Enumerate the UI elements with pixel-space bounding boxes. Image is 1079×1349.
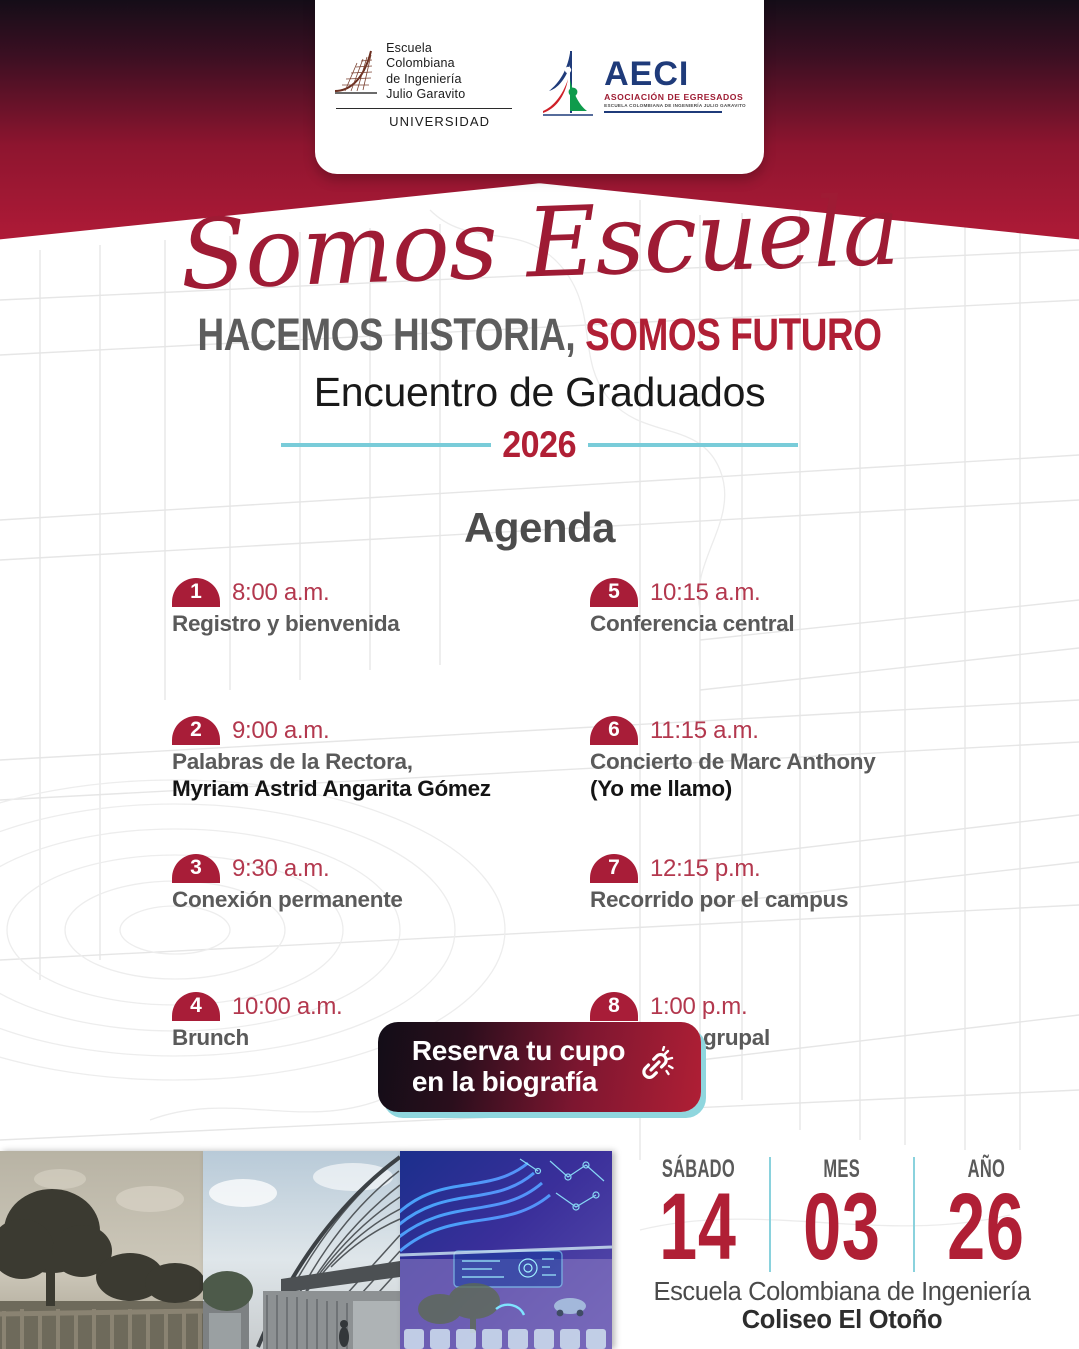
eci-divider [336,108,512,109]
agenda-item-desc-line-1: Concierto de Marc Anthony [590,749,875,774]
agenda-list: 18:00 a.m.Registro y bienvenida510:15 a.… [172,578,932,1096]
agenda-number-badge: 1 [172,578,220,607]
photo-future-tech [400,1151,612,1349]
agenda-item: 18:00 a.m.Registro y bienvenida [172,578,590,682]
agenda-item-desc-line-1: Palabras de la Rectora, [172,749,413,774]
event-subtitle: Encuentro de Graduados [0,369,1079,416]
photo-vintage-campus [0,1151,203,1349]
agenda-item: 29:00 a.m.Palabras de la Rectora,Myriam … [172,716,590,820]
agenda-number-badge: 8 [590,992,638,1021]
tagline-accent: SOMOS FUTURO [585,309,881,360]
agenda-number-badge: 6 [590,716,638,745]
cta-line-1: Reserva tu cupo [412,1035,625,1066]
agenda-item-description: Conexión permanente [172,887,590,914]
event-poster: Escuela Colombiana de Ingeniería Julio G… [0,0,1079,1349]
agenda-item-description: Concierto de Marc Anthony(Yo me llamo) [590,749,932,802]
aeci-acronym: AECI [604,57,746,91]
aeci-divider [604,111,722,112]
tagline: HACEMOS HISTORIA, SOMOS FUTURO [97,309,982,361]
date-column: AÑO26 [913,1157,1057,1271]
agenda-item-time: 9:30 a.m. [232,857,329,883]
agenda-number-badge: 2 [172,716,220,745]
agenda-item-head: 18:00 a.m. [172,578,590,607]
agenda-item-head: 29:00 a.m. [172,716,590,745]
agenda-number-badge: 5 [590,578,638,607]
cta-area: Reserva tu cupo en la biografía [0,1022,1079,1112]
script-title: Somos Escuela [0,176,1079,310]
venue-line-2: Coliseo El Otoño [627,1306,1057,1335]
agenda-item: 712:15 p.m.Recorrido por el campus [590,854,932,958]
event-year: 2026 [503,424,577,466]
agenda-item-head: 39:30 a.m. [172,854,590,883]
agenda-item-time: 10:00 a.m. [232,995,342,1021]
agenda-item-desc-line-1: Registro y bienvenida [172,611,400,636]
reserve-spot-button[interactable]: Reserva tu cupo en la biografía [378,1022,701,1112]
aeci-footnote: ESCUELA COLOMBIANA DE INGENIERÍA JULIO G… [604,104,746,109]
agenda-item-desc-line-2: (Yo me llamo) [590,776,732,801]
agenda-item-time: 12:15 p.m. [650,857,760,883]
agenda-item-description: Recorrido por el campus [590,887,932,914]
agenda-item-desc-line-2: Myriam Astrid Angarita Gómez [172,776,491,801]
event-date-block: SÁBADO14MES03AÑO26 Escuela Colombiana de… [627,1157,1057,1335]
eci-line-1: Escuela [386,41,432,55]
aeci-logo: AECI ASOCIACIÓN DE EGRESADOS ESCUELA COL… [541,49,746,121]
eci-line-4: Julio Garavito [386,87,465,101]
agenda-item: 510:15 a.m.Conferencia central [590,578,932,682]
date-column: MES03 [769,1157,913,1271]
eci-line-2: Colombiana [386,56,455,70]
venue-line-1: Escuela Colombiana de Ingeniería [627,1278,1057,1306]
agenda-item-time: 8:00 a.m. [232,581,329,607]
logo-card: Escuela Colombiana de Ingeniería Julio G… [315,0,764,174]
agenda-item-desc-line-1: Conferencia central [590,611,794,636]
escuela-colombiana-de-ingenieria-logo: Escuela Colombiana de Ingeniería Julio G… [333,41,525,129]
agenda-item-head: 81:00 p.m. [590,992,932,1021]
agenda-item-time: 1:00 p.m. [650,995,747,1021]
eci-line-3: de Ingeniería [386,72,462,86]
agenda-item-desc-line-1: Recorrido por el campus [590,887,848,912]
agenda-number-badge: 4 [172,992,220,1021]
agenda-item-description: Conferencia central [590,611,932,638]
year-rule-left [281,443,491,447]
date-column-value: 14 [659,1184,737,1271]
date-columns: SÁBADO14MES03AÑO26 [627,1157,1057,1271]
agenda-item-head: 510:15 a.m. [590,578,932,607]
link-chain-icon [635,1046,675,1086]
agenda-number-badge: 7 [590,854,638,883]
date-column-value: 26 [947,1184,1025,1271]
agenda-item-head: 712:15 p.m. [590,854,932,883]
agenda-item: 611:15 a.m.Concierto de Marc Anthony(Yo … [590,716,932,820]
agenda-heading: Agenda [0,504,1079,552]
agenda-item: 39:30 a.m.Conexión permanente [172,854,590,958]
agenda-item-head: 410:00 a.m. [172,992,590,1021]
agenda-item-description: Registro y bienvenida [172,611,590,638]
agenda-item-head: 611:15 a.m. [590,716,932,745]
agenda-item-time: 11:15 a.m. [650,719,759,745]
cta-label: Reserva tu cupo en la biografía [412,1035,625,1098]
aeci-figure-mark [541,49,599,121]
year-row: 2026 [0,424,1079,466]
aeci-subtitle: ASOCIACIÓN DE EGRESADOS [604,93,746,102]
cta-line-2: en la biografía [412,1066,597,1097]
agenda-number-badge: 3 [172,854,220,883]
agenda-item-desc-line-1: Conexión permanente [172,887,403,912]
tagline-plain: HACEMOS HISTORIA, [197,309,575,360]
date-column-value: 03 [803,1184,881,1271]
eci-universidad-label: UNIVERSIDAD [389,114,490,129]
eci-grid-mark [333,47,379,97]
agenda-item-time: 9:00 a.m. [232,719,329,745]
photo-modern-campus [203,1151,400,1349]
photo-strip [0,1151,612,1349]
headline-block: Somos Escuela HACEMOS HISTORIA, SOMOS FU… [0,195,1079,552]
year-rule-right [588,443,798,447]
agenda-item-time: 10:15 a.m. [650,581,760,607]
date-column: SÁBADO14 [627,1157,769,1271]
agenda-item-description: Palabras de la Rectora,Myriam Astrid Ang… [172,749,590,802]
